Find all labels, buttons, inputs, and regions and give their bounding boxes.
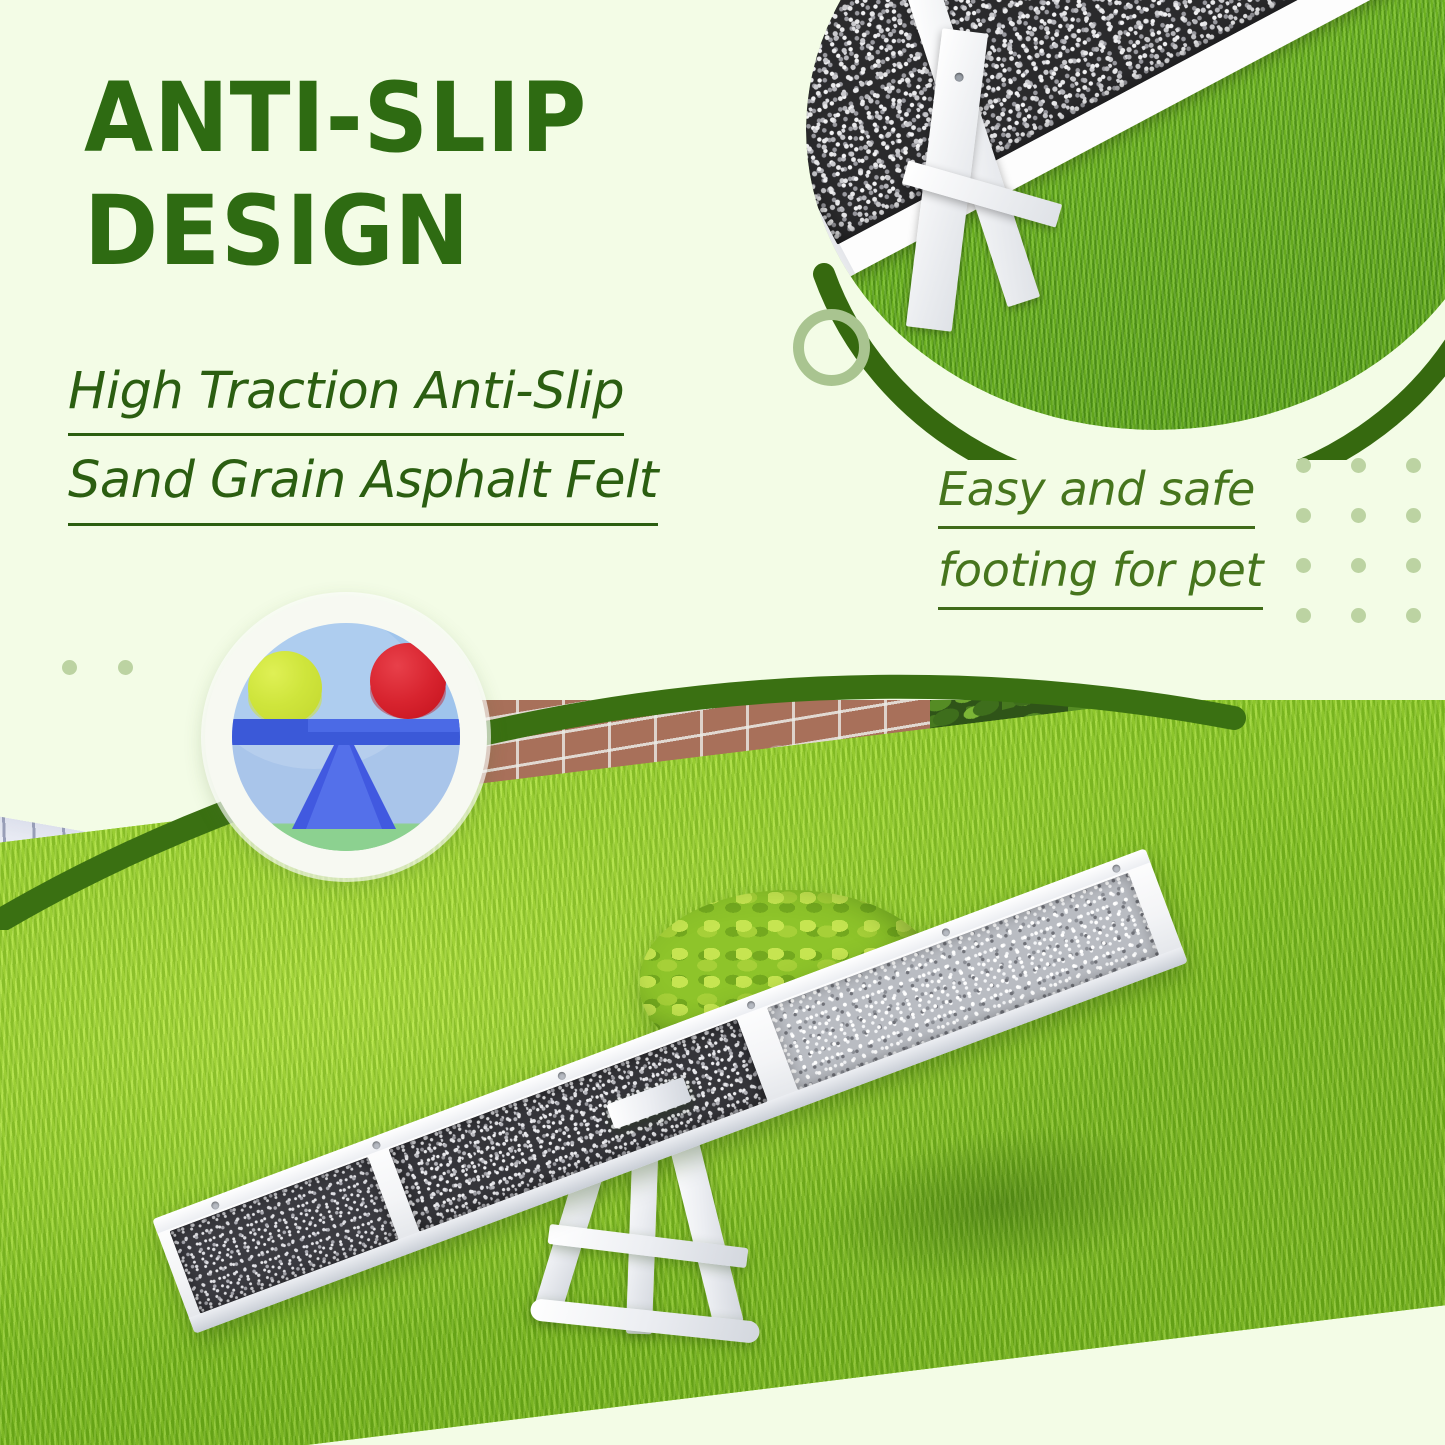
hero-product-photo xyxy=(0,700,1445,1445)
feature-caption: Easy and safe footing for pet xyxy=(938,456,1298,618)
caption-line-2: footing for pet xyxy=(938,537,1263,610)
caption-line-1: Easy and safe xyxy=(938,456,1255,529)
badge-fulcrum-highlight xyxy=(306,731,382,829)
badge-ball-red xyxy=(370,643,446,719)
asphalt-felt-closeup-photo xyxy=(806,0,1445,430)
plank-rail-bottom xyxy=(189,947,1188,1334)
page-title: Anti-Slip Design xyxy=(84,62,679,289)
decor-ring-top xyxy=(793,309,870,386)
headline-line-2: Design xyxy=(84,175,679,288)
subtitle: High Traction Anti-Slip Sand Grain Aspha… xyxy=(68,355,748,534)
infographic-canvas: Anti-Slip Design High Traction Anti-Slip… xyxy=(0,0,1445,1445)
subtitle-line-2: Sand Grain Asphalt Felt xyxy=(68,444,658,525)
badge-seesaw-plank-highlight xyxy=(308,719,460,732)
headline-line-1: Anti-Slip xyxy=(84,62,679,175)
dog-seesaw-product xyxy=(110,840,1230,1360)
decor-dot-grid-right xyxy=(1296,458,1445,658)
seesaw-icon-badge xyxy=(205,596,487,878)
subtitle-line-1: High Traction Anti-Slip xyxy=(68,355,624,436)
screw-icon xyxy=(954,72,964,82)
seesaw-balance-icon xyxy=(232,623,460,851)
badge-ball-yellow xyxy=(248,651,322,725)
inset-photo-content xyxy=(806,0,1445,430)
